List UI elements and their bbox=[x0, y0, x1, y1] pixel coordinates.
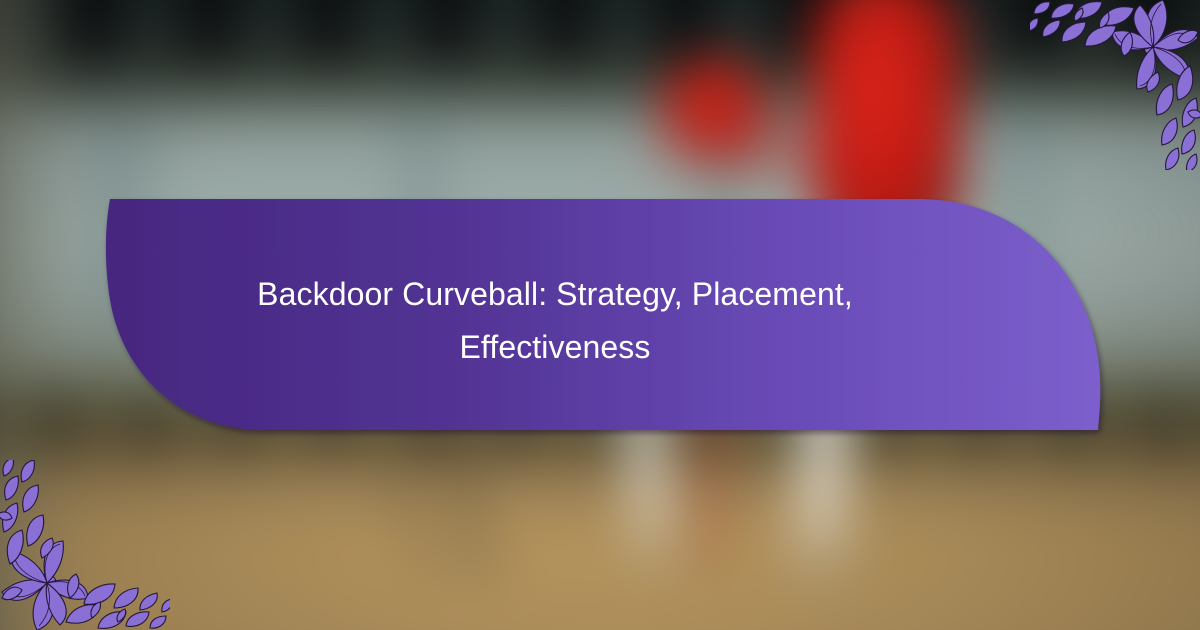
title-banner: Backdoor Curveball: Strategy, Placement,… bbox=[0, 0, 1200, 630]
page-title: Backdoor Curveball: Strategy, Placement,… bbox=[190, 268, 920, 374]
share-card: Backdoor Curveball: Strategy, Placement,… bbox=[0, 0, 1200, 630]
